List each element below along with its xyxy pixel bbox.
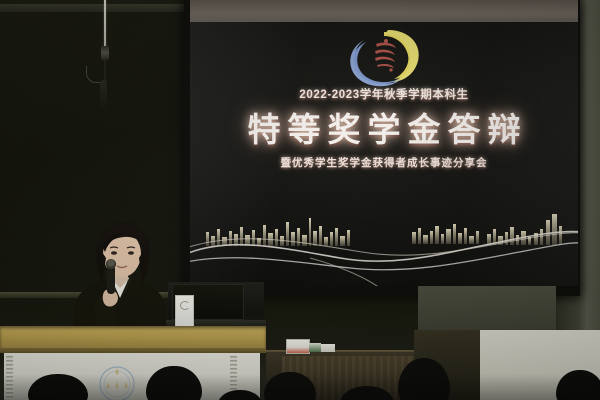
- green-box: [309, 343, 321, 352]
- projected-slide: 2022-2023学年秋季学期本科生 特等奖学金答辩 暨优秀学生奖学金获得者成长…: [190, 18, 578, 286]
- lecture-hall-photo: 2022-2023学年秋季学期本科生 特等奖学金答辩 暨优秀学生奖学金获得者成长…: [0, 0, 600, 400]
- presenter: [62, 216, 182, 336]
- hanging-microphone-pole: [104, 0, 106, 50]
- slide-eyebrow: 2022-2023学年秋季学期本科生: [190, 90, 578, 102]
- right-wall: [578, 0, 600, 330]
- skyline-wave-graphic: [190, 196, 578, 286]
- hanging-microphone-capsule: [100, 80, 107, 108]
- paper-card-mark-icon: [180, 301, 190, 310]
- right-wall-panel: [418, 286, 556, 336]
- slide-title: 特等奖学金答辩: [190, 112, 578, 148]
- tissue-box: [286, 339, 310, 354]
- crescent-moon-and-wave-emblem-icon: [344, 28, 426, 90]
- podium-surface: [0, 326, 266, 350]
- slide-subtitle: 暨优秀学生奖学金获得者成长事迹分享会: [190, 158, 578, 169]
- hanging-microphone-joint: [101, 46, 109, 60]
- slide-text-block: 2022-2023学年秋季学期本科生 特等奖学金答辩 暨优秀学生奖学金获得者成长…: [190, 90, 578, 169]
- white-box: [321, 344, 335, 352]
- hanging-microphone-wire: [104, 60, 106, 82]
- podium-vent-left: [6, 356, 13, 398]
- university-emblem-icon: [94, 362, 140, 400]
